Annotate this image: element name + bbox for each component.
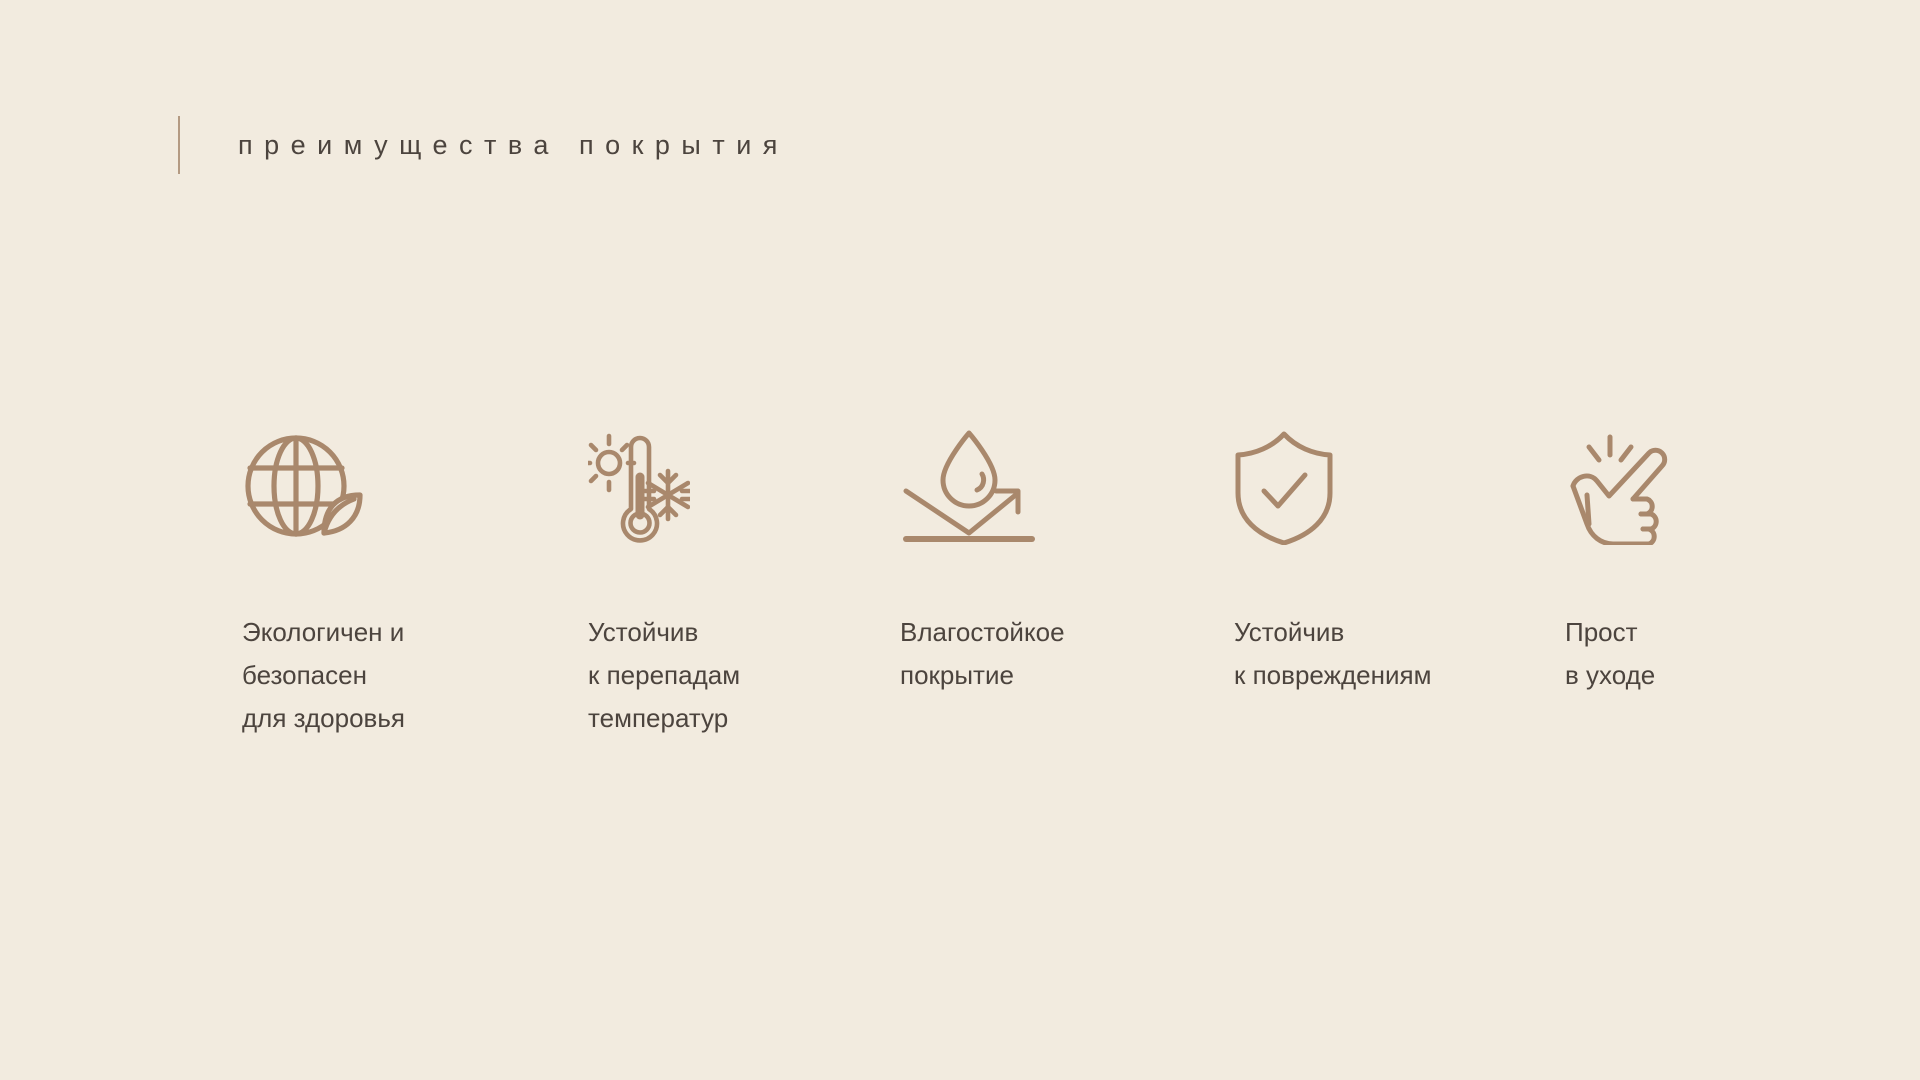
features-row: Экологичен и безопасен для здоровья Усто… bbox=[0, 400, 1920, 780]
feature-label: Прост в уходе bbox=[1565, 611, 1895, 697]
title-accent-rule bbox=[178, 116, 180, 174]
feature-item-easy-care: Прост в уходе bbox=[1565, 400, 1895, 697]
feature-label: Влагостойкое покрытие bbox=[900, 611, 1230, 697]
shield-check-icon bbox=[1234, 400, 1564, 545]
feature-item-temperature: Устойчив к перепадам температур bbox=[588, 400, 918, 740]
feature-item-eco: Экологичен и безопасен для здоровья bbox=[242, 400, 572, 740]
feature-label: Экологичен и безопасен для здоровья bbox=[242, 611, 572, 740]
water-drop-repellent-icon bbox=[900, 400, 1230, 545]
page-title: преимущества покрытия bbox=[238, 132, 789, 159]
globe-leaf-icon bbox=[242, 400, 572, 545]
page-title-block: преимущества покрытия bbox=[178, 116, 789, 174]
thermometer-sun-snowflake-icon bbox=[588, 400, 918, 545]
snapping-fingers-icon bbox=[1565, 400, 1895, 545]
feature-label: Устойчив к перепадам температур bbox=[588, 611, 918, 740]
feature-label: Устойчив к повреждениям bbox=[1234, 611, 1564, 697]
feature-item-moisture: Влагостойкое покрытие bbox=[900, 400, 1230, 697]
feature-item-durability: Устойчив к повреждениям bbox=[1234, 400, 1564, 697]
